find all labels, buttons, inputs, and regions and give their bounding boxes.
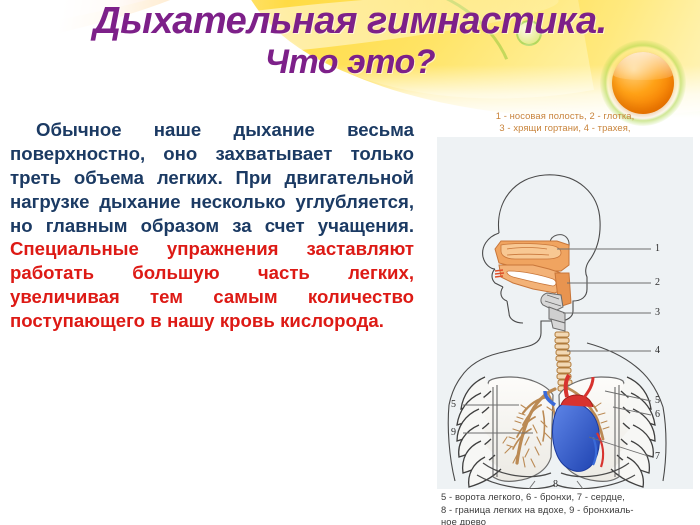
paragraph-navy-text: Обычное наше дыхание весьма поверхностно…: [10, 119, 414, 236]
title-line-1: Дыхательная гимнастика.: [0, 2, 700, 41]
slide: Дыхательная гимнастика. Что это? Обычное…: [0, 0, 700, 525]
caption-top-line-2: 3 - хрящи гортани, 4 - трахея,: [437, 122, 693, 134]
label-left-9: 9: [451, 427, 456, 438]
figure-illustration: 1 2 3 4 5 6 7 5 9 8: [437, 137, 693, 489]
trachea: [555, 332, 572, 391]
caption-bottom-line-2: 8 - граница легких на вдохе, 9 - бронхиа…: [441, 504, 693, 517]
paragraph-navy: Обычное наше дыхание весьма поверхностно…: [10, 118, 414, 333]
page-title: Дыхательная гимнастика. Что это?: [0, 2, 700, 79]
label-right-3: 3: [655, 307, 660, 318]
paragraph-red-text: Специальные упражнения заставляют работа…: [10, 238, 414, 331]
label-right-4: 4: [655, 345, 660, 356]
respiratory-system-figure: 1 - носовая полость, 2 - глотка, 3 - хря…: [437, 110, 693, 520]
label-right-2: 2: [655, 277, 660, 288]
label-right-7: 7: [655, 451, 660, 462]
figure-caption-bottom: 5 - ворота легкого, 6 - бронхи, 7 - серд…: [437, 491, 693, 525]
larynx-cartilages: [541, 293, 565, 331]
label-right-5: 5: [655, 395, 660, 406]
title-line-2: Что это?: [0, 45, 700, 80]
label-left-5: 5: [451, 399, 456, 410]
caption-bottom-line-3: ное древо: [441, 516, 693, 525]
caption-top-line-1: 1 - носовая полость, 2 - глотка,: [437, 110, 693, 122]
caption-bottom-line-1: 5 - ворота легкого, 6 - бронхи, 7 - серд…: [441, 491, 693, 504]
label-right-1: 1: [655, 243, 660, 254]
body-text-block: Обычное наше дыхание весьма поверхностно…: [10, 118, 414, 333]
label-right-6: 6: [655, 409, 660, 420]
label-8: 8: [553, 479, 558, 490]
figure-caption-top: 1 - носовая полость, 2 - глотка, 3 - хря…: [437, 110, 693, 135]
